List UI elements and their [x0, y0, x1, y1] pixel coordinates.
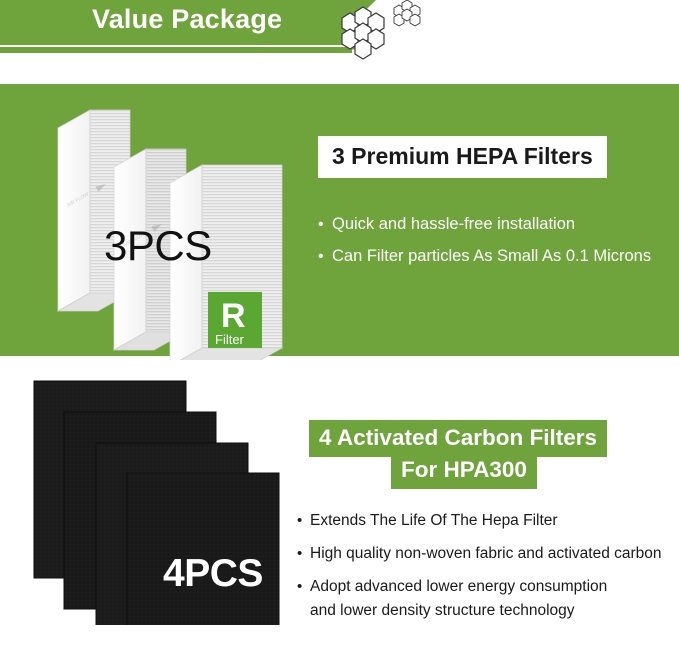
- list-item: • High quality non-woven fabric and acti…: [297, 543, 679, 565]
- bullet-marker-icon: •: [297, 543, 310, 565]
- bullet-marker-icon: •: [297, 510, 310, 532]
- hepa-heading-badge: 3 Premium HEPA Filters: [318, 136, 607, 178]
- hepa-count-label: 3PCS: [104, 222, 212, 270]
- carbon-count-label: 4PCS: [163, 552, 263, 596]
- list-item: • Quick and hassle-free installation: [318, 212, 668, 237]
- bullet-marker-icon: •: [297, 576, 310, 598]
- header-banner: Value Package: [0, 0, 679, 56]
- page-title: Value Package: [92, 4, 282, 35]
- carbon-bullet-list: • Extends The Life Of The Hepa Filter • …: [297, 510, 679, 622]
- list-item: • Adopt advanced lower energy consumptio…: [297, 576, 679, 598]
- svg-text:Filter: Filter: [215, 332, 245, 347]
- header-underline-rule: [0, 47, 352, 53]
- list-item-continuation: and lower density structure technology: [310, 600, 679, 622]
- carbon-heading-line2: For HPA300: [391, 452, 537, 489]
- list-item: • Can Filter particles As Small As 0.1 M…: [318, 244, 668, 269]
- list-item-label: Adopt advanced lower energy consumption: [310, 576, 679, 598]
- bullet-marker-icon: •: [318, 244, 332, 269]
- product-infographic: Value Package: [0, 0, 679, 668]
- hexagon-cluster-icon: [322, 0, 432, 62]
- list-item-label: Can Filter particles As Small As 0.1 Mic…: [332, 244, 668, 269]
- hepa-bullet-list: • Quick and hassle-free installation • C…: [318, 212, 668, 276]
- bullet-marker-icon: •: [318, 212, 332, 237]
- svg-text:R: R: [221, 297, 246, 335]
- list-item-label: High quality non-woven fabric and activa…: [310, 543, 679, 565]
- list-item-label: Quick and hassle-free installation: [332, 212, 668, 237]
- list-item-label: Extends The Life Of The Hepa Filter: [310, 510, 679, 532]
- list-item: • Extends The Life Of The Hepa Filter: [297, 510, 679, 532]
